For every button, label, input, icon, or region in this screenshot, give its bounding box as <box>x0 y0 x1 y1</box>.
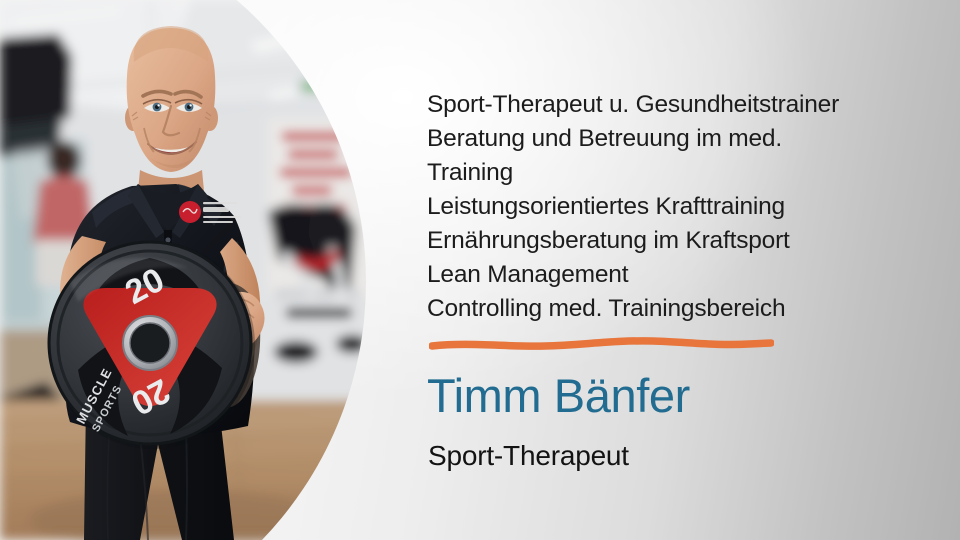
info-column: Sport-Therapeut u. Gesundheitstrainer Be… <box>427 0 937 540</box>
credential-line: Leistungsorientiertes Krafttraining <box>427 190 932 224</box>
person-role: Sport-Therapeut <box>428 437 629 475</box>
orange-divider <box>429 336 774 354</box>
credential-line: Controlling med. Trainingsbereich <box>427 292 932 326</box>
credential-line: Training <box>427 156 932 190</box>
credentials-list: Sport-Therapeut u. Gesundheitstrainer Be… <box>427 88 932 326</box>
portrait-photo: 20 20 MUSCLE SPORTS <box>0 0 380 540</box>
credential-line: Beratung und Betreuung im med. <box>427 122 932 156</box>
portrait-photo-clip: 20 20 MUSCLE SPORTS <box>0 0 380 540</box>
credential-line: Lean Management <box>427 258 932 292</box>
portrait-illustration: 20 20 MUSCLE SPORTS <box>0 0 380 540</box>
credential-line: Ernährungsberatung im Kraftsport <box>427 224 932 258</box>
person-name: Timm Bänfer <box>427 368 690 424</box>
profile-card: 20 20 MUSCLE SPORTS Sport-Therapeut u. G… <box>0 0 960 540</box>
credential-line: Sport-Therapeut u. Gesundheitstrainer <box>427 88 932 122</box>
